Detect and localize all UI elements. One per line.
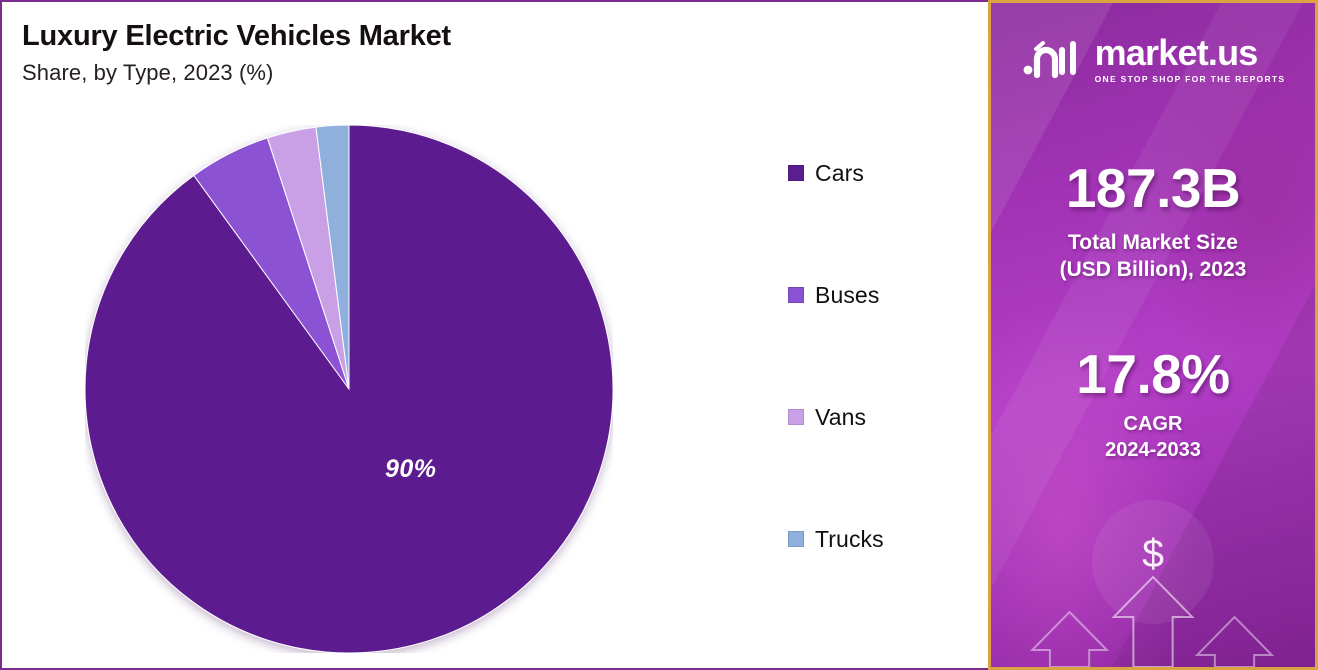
market-us-logo-icon — [1021, 37, 1083, 81]
cagr-caption-line1: CAGR — [1124, 413, 1183, 435]
legend-swatch-icon — [788, 531, 804, 547]
legend-label: Cars — [815, 160, 864, 187]
growth-arrows-decoration: $ — [991, 467, 1315, 667]
chart-infographic: Luxury Electric Vehicles Market Share, b… — [0, 0, 1318, 670]
legend-label: Trucks — [815, 526, 884, 553]
pie-slice-value-label: 90% — [385, 455, 437, 484]
market-size-caption-line1: Total Market Size — [1068, 231, 1238, 254]
cagr-value: 17.8% — [991, 347, 1315, 402]
arrow-up-right-icon — [1197, 617, 1272, 667]
arrow-up-left-icon — [1032, 612, 1107, 667]
market-size-caption-line2: (USD Billion), 2023 — [1060, 258, 1247, 281]
market-size-caption: Total Market Size (USD Billion), 2023 — [991, 230, 1315, 284]
legend-swatch-icon — [788, 287, 804, 303]
brand-tagline: ONE STOP SHOP FOR THE REPORTS — [1095, 75, 1286, 84]
cagr-caption-line2: 2024-2033 — [1105, 439, 1201, 461]
legend-item-trucks[interactable]: Trucks — [788, 526, 978, 552]
legend-swatch-icon — [788, 409, 804, 425]
market-size-stat: 187.3B Total Market Size (USD Billion), … — [991, 161, 1315, 284]
brand-logo-text: market.us ONE STOP SHOP FOR THE REPORTS — [1095, 35, 1286, 84]
dollar-sign-icon: $ — [1142, 532, 1164, 576]
market-size-value: 187.3B — [991, 161, 1315, 216]
legend-swatch-icon — [788, 165, 804, 181]
brand-name: market.us — [1095, 35, 1286, 71]
brand-logo[interactable]: market.us ONE STOP SHOP FOR THE REPORTS — [991, 35, 1315, 84]
chart-heading-group: Luxury Electric Vehicles Market Share, b… — [22, 20, 451, 86]
legend-label: Buses — [815, 282, 879, 309]
legend-item-cars[interactable]: Cars — [788, 160, 978, 186]
legend-label: Vans — [815, 404, 866, 431]
pie-chart: 90% — [85, 125, 613, 653]
page-title: Luxury Electric Vehicles Market — [22, 20, 451, 53]
cagr-stat: 17.8% CAGR 2024-2033 — [991, 347, 1315, 463]
legend-item-buses[interactable]: Buses — [788, 282, 978, 308]
cagr-caption: CAGR 2024-2033 — [991, 412, 1315, 463]
pie-chart-svg — [85, 125, 613, 653]
chart-subtitle: Share, by Type, 2023 (%) — [22, 60, 451, 86]
chart-panel: Luxury Electric Vehicles Market Share, b… — [0, 0, 988, 670]
brand-panel: market.us ONE STOP SHOP FOR THE REPORTS … — [988, 0, 1318, 670]
pie-slice-group — [85, 125, 613, 653]
chart-legend: Cars Buses Vans Trucks — [788, 160, 978, 552]
legend-item-vans[interactable]: Vans — [788, 404, 978, 430]
